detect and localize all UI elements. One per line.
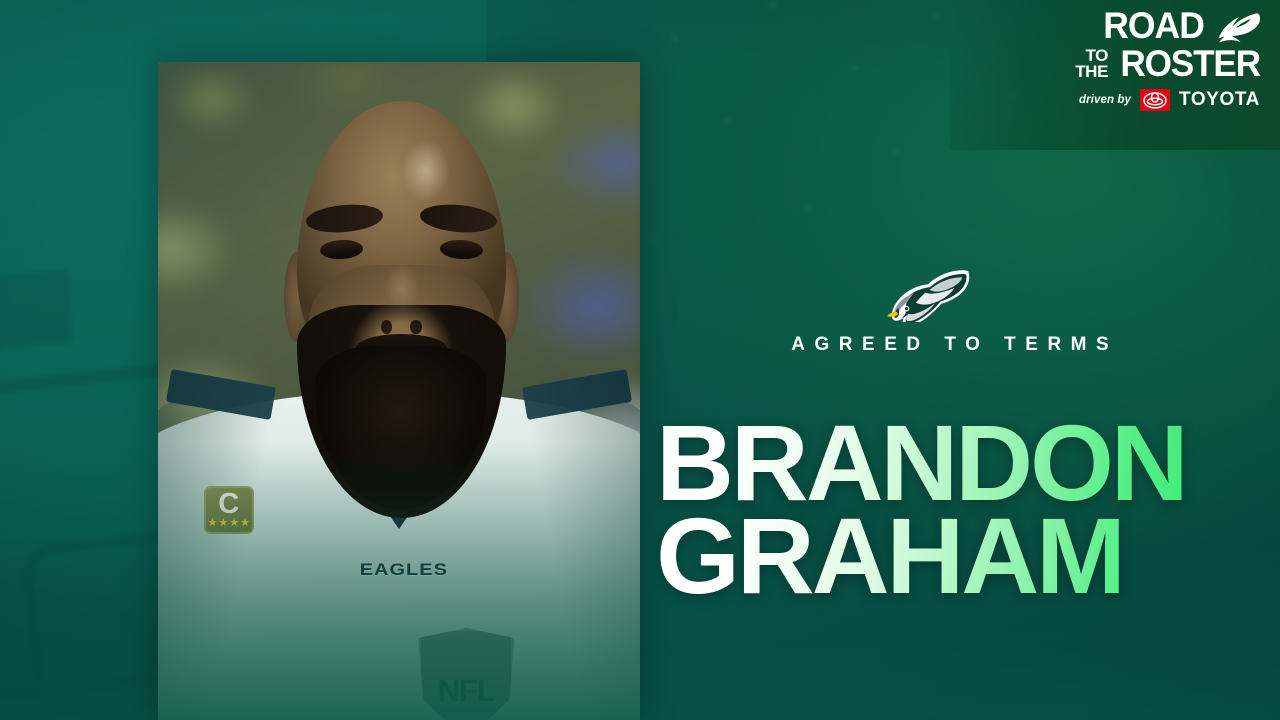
road-to-the-roster-lockup: ROAD TO THE ROSTER driven by TOYOTA (1072, 8, 1260, 111)
status-badge: AGREED TO TERMS (650, 334, 1250, 356)
rtr-to-the-stack: TO THE (1075, 48, 1108, 80)
sponsor-prefix-label: driven by (1079, 94, 1131, 106)
player-name-block: BRANDON GRAHAM (656, 414, 1256, 604)
sponsor-lockup: driven by TOYOTA (1072, 89, 1260, 111)
rtr-row-roster: TO THE ROSTER (1072, 46, 1260, 81)
player-last-name: GRAHAM (656, 507, 1256, 604)
photo-color-grade-bottom (158, 62, 640, 720)
toyota-ellipses-icon (1140, 89, 1170, 111)
rtr-the-text: THE (1075, 64, 1108, 80)
player-photo: C ★ ★ ★ ★ ★★★★★★ NFL EAGLES NFL (158, 62, 640, 720)
eagles-head-logo-icon (878, 266, 970, 322)
player-photo-inner: C ★ ★ ★ ★ ★★★★★★ NFL EAGLES NFL (158, 62, 640, 720)
announcement-graphic: ROAD TO THE ROSTER driven by TOYOTA (0, 0, 1280, 720)
rtr-row-road: ROAD (1072, 8, 1260, 48)
rtr-road-text: ROAD (1103, 8, 1204, 44)
toyota-wordmark: TOYOTA (1179, 89, 1260, 111)
eagles-wing-logo-icon (1208, 9, 1260, 43)
rtr-roster-text: ROSTER (1120, 46, 1260, 81)
